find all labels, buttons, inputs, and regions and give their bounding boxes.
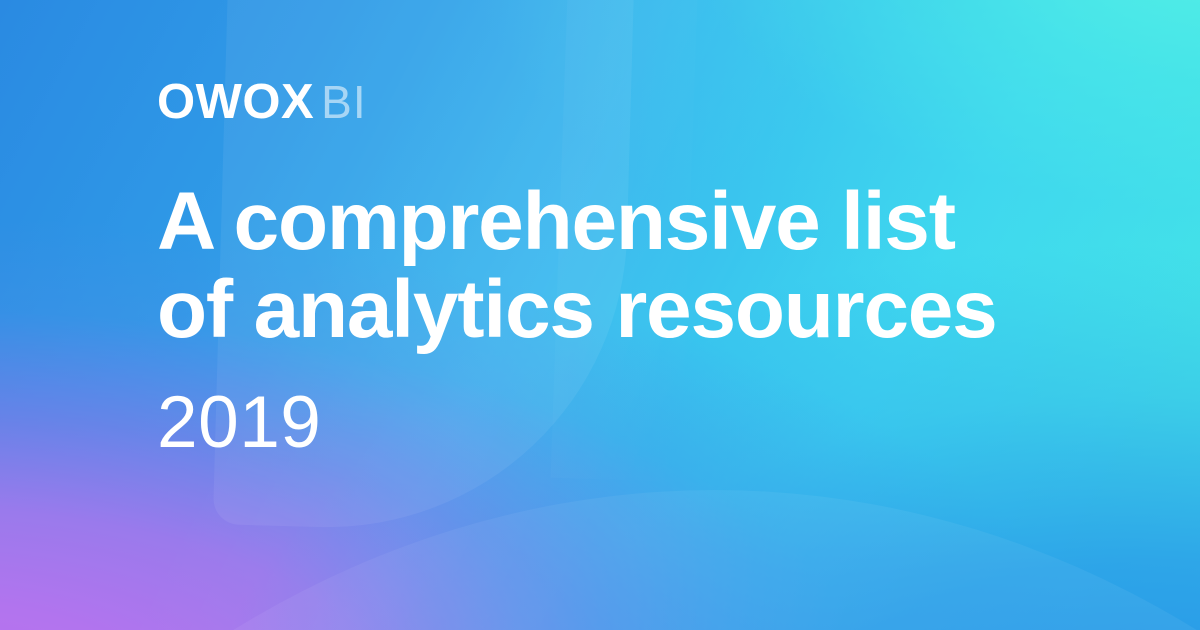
brand-logo: OWOX BI bbox=[157, 78, 367, 127]
og-share-card: OWOX BI A comprehensive list of analytic… bbox=[0, 0, 1200, 630]
page-title: A comprehensive list of analytics resour… bbox=[157, 178, 997, 353]
brand-logo-bi: BI bbox=[321, 79, 366, 125]
brand-logo-owox: OWOX bbox=[157, 78, 314, 127]
card-content: OWOX BI A comprehensive list of analytic… bbox=[157, 0, 1117, 630]
page-subtitle-year: 2019 bbox=[157, 386, 321, 459]
